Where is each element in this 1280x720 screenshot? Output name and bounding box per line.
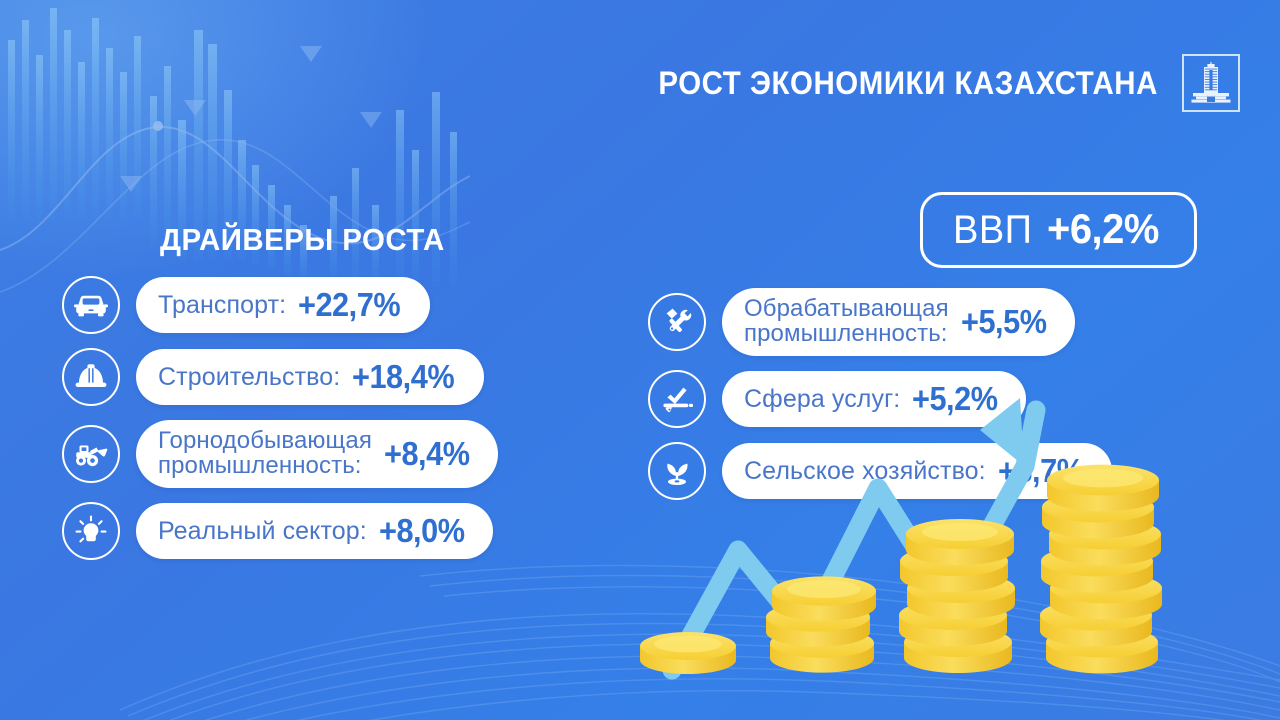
section-title-growth-drivers: ДРАЙВЕРЫ РОСТА: [160, 222, 599, 258]
metric-value: +18,4%: [352, 358, 454, 396]
metric-value: +8,0%: [379, 512, 465, 550]
metric-value: +5,5%: [961, 303, 1047, 341]
infographic-canvas: РОСТ ЭКОНОМИКИ КАЗАХСТАНА: [0, 0, 1280, 720]
hard-hat-glyph: [74, 363, 108, 391]
car-glyph: [74, 292, 108, 318]
coin-stack-3: [899, 519, 1015, 673]
metric-pill: Обрабатывающая промышленность: +5,5%: [722, 288, 1075, 356]
growth-illustration: [620, 370, 1280, 720]
excavator-icon: [62, 425, 120, 483]
coin-stack-1: [640, 632, 736, 674]
header: РОСТ ЭКОНОМИКИ КАЗАХСТАНА: [0, 54, 1280, 112]
coin-stack-2: [766, 576, 876, 672]
car-icon: [62, 276, 120, 334]
list-item: Реальный сектор: +8,0%: [62, 502, 622, 560]
list-item: Обрабатывающая промышленность: +5,5%: [648, 288, 1228, 356]
metric-value: +8,4%: [384, 435, 470, 473]
coin-stack-4: [1040, 465, 1162, 674]
list-item: Горнодобывающая промышленность: +8,4%: [62, 420, 622, 488]
metric-value: +22,7%: [298, 286, 400, 324]
excavator-glyph: [73, 440, 109, 468]
hammer-wrench-glyph: [661, 306, 693, 338]
growth-drivers-section: ДРАЙВЕРЫ РОСТА Транспорт: +22,7%: [62, 222, 622, 574]
metric-label: Строительство:: [158, 364, 340, 390]
metric-label: Горнодобывающая промышленность:: [158, 429, 372, 479]
coins-and-arrow-svg: [620, 370, 1280, 720]
gdp-badge: ВВП +6,2%: [920, 192, 1197, 268]
metric-label: Обрабатывающая промышленность:: [744, 297, 949, 347]
page-title: РОСТ ЭКОНОМИКИ КАЗАХСТАНА: [659, 65, 1158, 102]
hard-hat-icon: [62, 348, 120, 406]
hammer-wrench-icon: [648, 293, 706, 351]
metric-pill: Горнодобывающая промышленность: +8,4%: [136, 420, 498, 488]
list-item: Транспорт: +22,7%: [62, 276, 622, 334]
gdp-value: +6,2%: [1047, 205, 1159, 253]
gdp-label: ВВП: [953, 208, 1032, 253]
government-building-icon: [1182, 54, 1240, 112]
lightbulb-icon: [62, 502, 120, 560]
metric-label: Транспорт:: [158, 292, 286, 318]
metric-pill: Строительство: +18,4%: [136, 349, 484, 405]
list-item: Строительство: +18,4%: [62, 348, 622, 406]
metric-pill: Реальный сектор: +8,0%: [136, 503, 493, 559]
metric-pill: Транспорт: +22,7%: [136, 277, 430, 333]
metric-label: Реальный сектор:: [158, 518, 367, 544]
lightbulb-glyph: [75, 515, 107, 547]
government-building-glyph: [1191, 62, 1231, 104]
